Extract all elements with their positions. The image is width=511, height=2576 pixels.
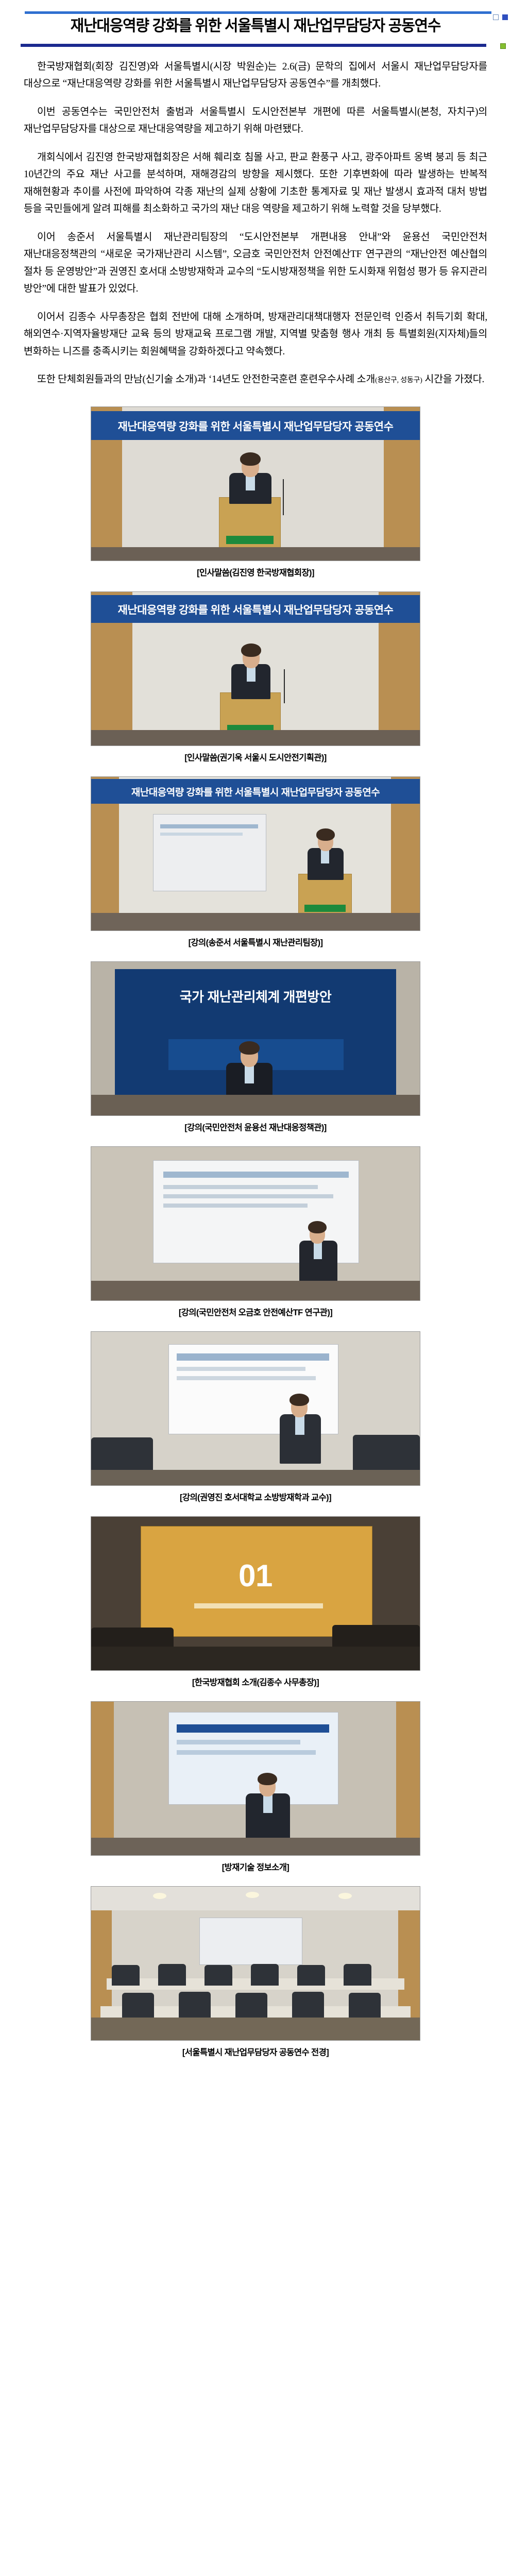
photo-caption: [강의(송준서 서울특별시 재난관리팀장)] [0,936,511,948]
photo-block: [서울특별시 재난업무담당자 공동연수 전경] [0,1886,511,2058]
photo-block: [강의(권영진 호서대학교 소방방재학과 교수)] [0,1331,511,1503]
photo-caption: [인사말씀(김진영 한국방재협회장)] [0,566,511,578]
photo-banner-text: 01 [91,1558,420,1594]
photo-caption: [강의(국민안전처 오금호 안전예산TF 연구관)] [0,1306,511,1318]
photo-caption: [인사말씀(권기욱 서울시 도시안전기획관)] [0,751,511,763]
photo-image: 재난대응역량 강화를 위한 서울특별시 재난업무담당자 공동연수 [91,776,420,931]
photo-gallery: 재난대응역량 강화를 위한 서울특별시 재난업무담당자 공동연수 [인사말씀(김… [0,399,511,2058]
paragraph-4: 이어 송준서 서울특별시 재난관리팀장의 “도시안전본부 개편내용 안내”와 윤… [24,229,487,298]
photo-block: 재난대응역량 강화를 위한 서울특별시 재난업무담당자 공동연수 [인사말씀(김… [0,406,511,578]
photo-caption: [방재기술 정보소개] [0,1860,511,1873]
photo-block: 국가 재난관리체계 개편방안 [강의(국민안전처 윤용선 재난대응정책관)] [0,961,511,1133]
photo-block: [강의(국민안전처 오금호 안전예산TF 연구관)] [0,1146,511,1318]
photo-block: 01 [한국방재협회 소개(김종수 사무총장)] [0,1516,511,1688]
paragraph-5: 이어서 김종수 사무총장은 협회 전반에 대해 소개하며, 방재관리대책대행자 … [24,309,487,361]
article-body: 한국방재협회(회장 김진영)와 서울특별시(시장 박원순)는 2.6(금) 문학… [0,47,511,389]
paragraph-6-tail: 시간을 가졌다. [422,374,484,385]
photo-banner-text: 국가 재난관리체계 개편방안 [91,987,420,1006]
photo-caption: [강의(국민안전처 윤용선 재난대응정책관)] [0,1121,511,1133]
page-title: 재난대응역량 강화를 위한 서울특별시 재난업무담당자 공동연수 [10,18,501,36]
document-page: 재난대응역량 강화를 위한 서울특별시 재난업무담당자 공동연수 한국방재협회(… [0,0,511,2576]
photo-caption: [강의(권영진 호서대학교 소방방재학과 교수)] [0,1490,511,1503]
photo-image: 01 [91,1516,420,1671]
photo-image [91,1701,420,1856]
selection-handle-solid[interactable] [502,14,508,20]
selection-handle-green[interactable] [500,43,506,49]
paragraph-2: 이번 공동연수는 국민안전처 출범과 서울특별시 도시안전본부 개편에 따른 서… [24,104,487,138]
photo-caption: [서울특별시 재난업무담당자 공동연수 전경] [0,2045,511,2058]
photo-image [91,1886,420,2041]
photo-block: 재난대응역량 강화를 위한 서울특별시 재난업무담당자 공동연수 [인사말씀(권… [0,591,511,763]
photo-caption: [한국방재협회 소개(김종수 사무총장)] [0,1675,511,1688]
paragraph-6-lead: 또한 단체회원들과의 만남(신기술 소개)과 ‘14년도 안전한국훈련 훈련우수… [37,374,375,385]
photo-image [91,1146,420,1301]
paragraph-1: 한국방재협회(회장 김진영)와 서울특별시(시장 박원순)는 2.6(금) 문학… [24,58,487,93]
photo-image [91,1331,420,1486]
photo-banner-text: 재난대응역량 강화를 위한 서울특별시 재난업무담당자 공동연수 [91,418,420,434]
photo-banner-text: 재난대응역량 강화를 위한 서울특별시 재난업무담당자 공동연수 [91,785,420,799]
paragraph-3: 개회식에서 김진영 한국방재협회장은 서해 훼리호 침몰 사고, 판교 환풍구 … [24,149,487,218]
photo-image: 재난대응역량 강화를 위한 서울특별시 재난업무담당자 공동연수 [91,591,420,746]
photo-block: 재난대응역량 강화를 위한 서울특별시 재난업무담당자 공동연수 [강의(송준서… [0,776,511,948]
photo-block: [방재기술 정보소개] [0,1701,511,1873]
photo-image: 재난대응역량 강화를 위한 서울특별시 재난업무담당자 공동연수 [91,406,420,561]
accent-rule [25,11,491,14]
paragraph-6: 또한 단체회원들과의 만남(신기술 소개)과 ‘14년도 안전한국훈련 훈련우수… [24,371,487,388]
paragraph-6-note: (용산구, 성동구) [375,377,422,384]
photo-image: 국가 재난관리체계 개편방안 [91,961,420,1116]
header-rule-area [0,0,511,18]
photo-banner-text: 재난대응역량 강화를 위한 서울특별시 재난업무담당자 공동연수 [91,602,420,617]
